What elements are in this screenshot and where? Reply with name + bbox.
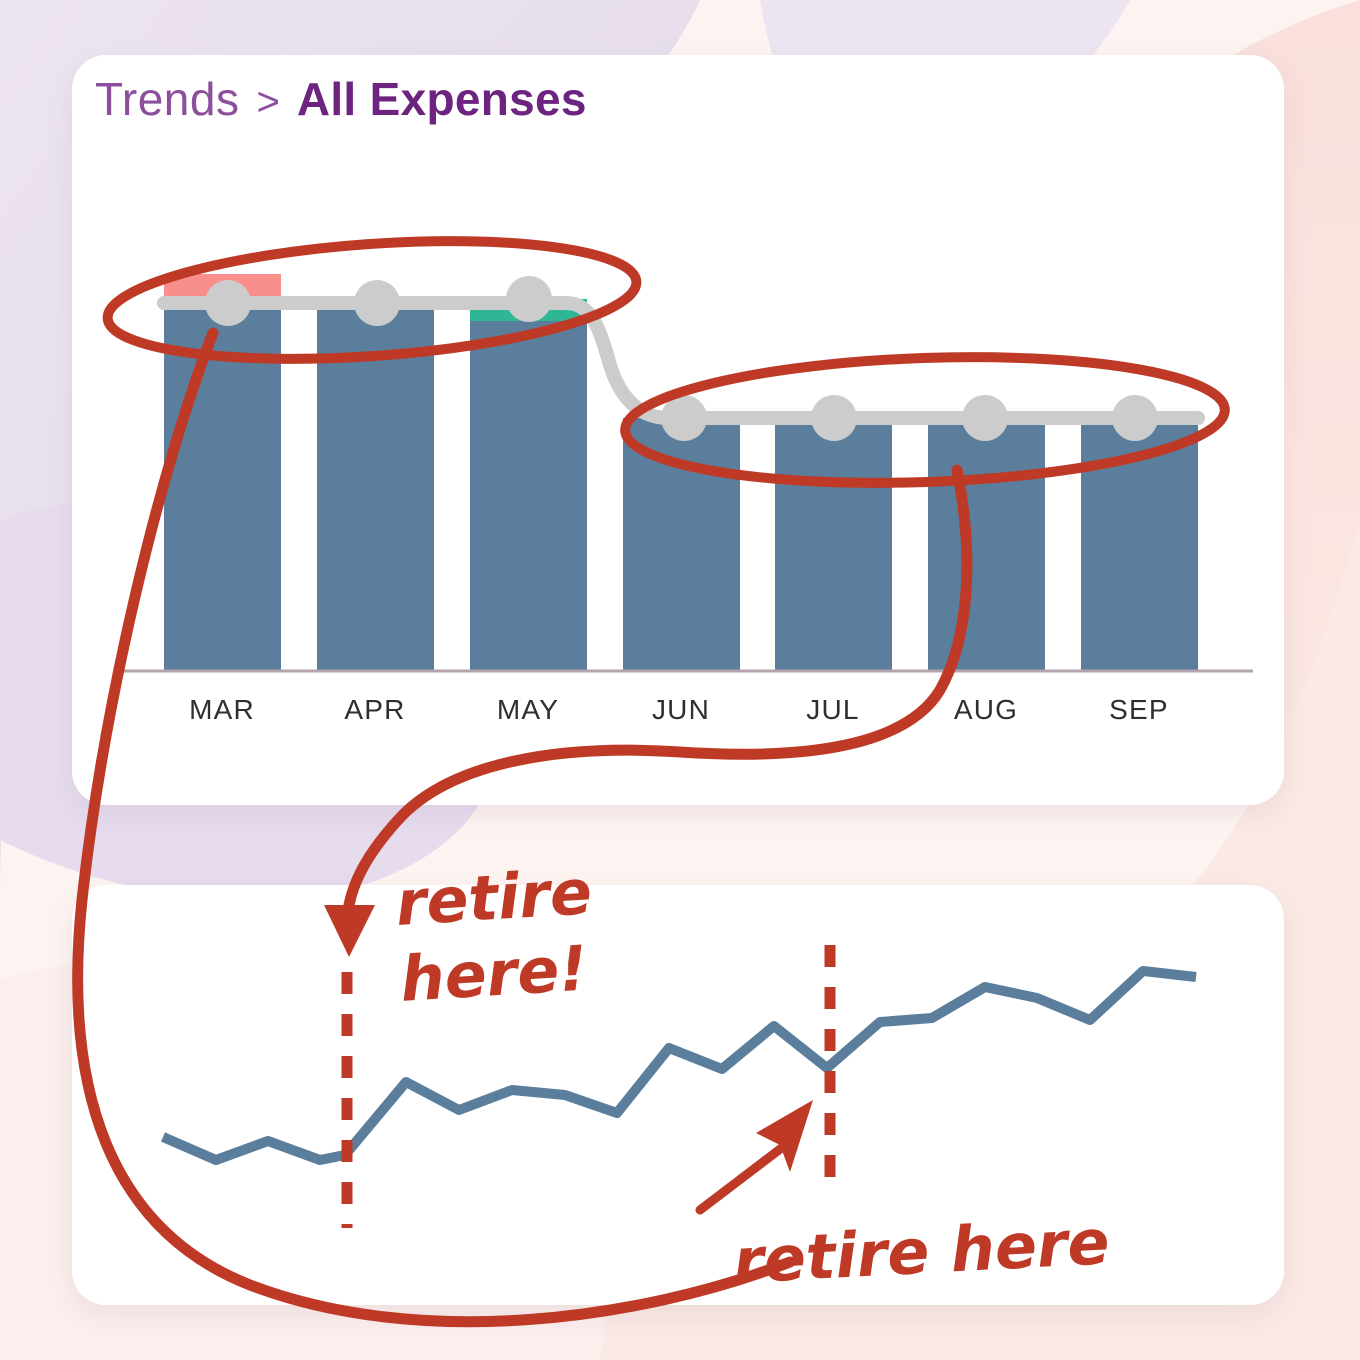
forecast-line-chart[interactable] — [0, 0, 1360, 1360]
screenshot-root: Trends > All Expenses — [0, 0, 1360, 1360]
annotation-retire-here-exclaim: retire here! — [394, 854, 599, 1018]
forecast-line[interactable] — [163, 971, 1196, 1160]
